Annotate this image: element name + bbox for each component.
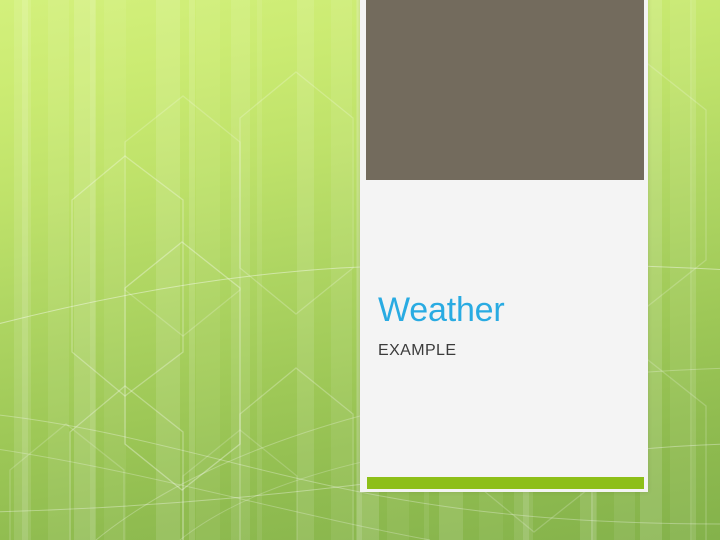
presentation-slide: Weather EXAMPLE — [0, 0, 720, 540]
picture-placeholder[interactable] — [366, 0, 644, 180]
slide-subtitle[interactable]: EXAMPLE — [378, 340, 630, 362]
title-slide-card: Weather EXAMPLE — [360, 0, 648, 492]
accent-bar — [367, 477, 644, 489]
title-text-block: Weather EXAMPLE — [378, 290, 630, 362]
page-title[interactable]: Weather — [378, 290, 630, 330]
